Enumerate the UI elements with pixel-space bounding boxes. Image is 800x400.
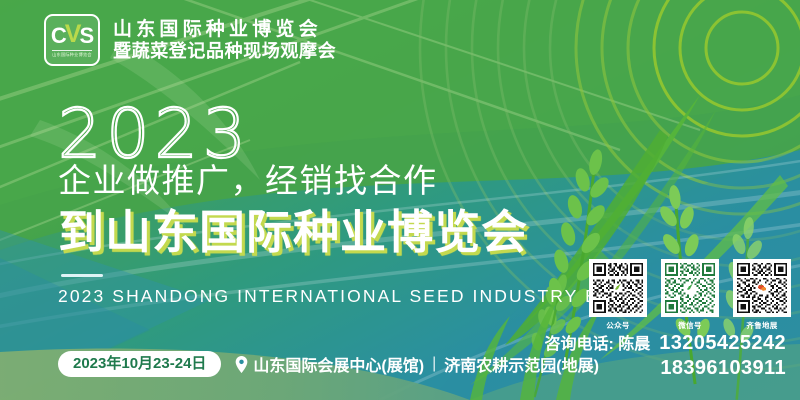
qr-item-gongzhonghao[interactable]: 公众号 <box>589 259 647 331</box>
contact-line-1: 咨询电话: 陈晨 13205425242 <box>544 330 786 355</box>
expo-promo-banner: CVS 山东国际种业博览会 山东国际种业博览会 暨蔬菜登记品种现场观摩会 202… <box>0 0 800 400</box>
main-copy-block: 2023 企业做推广，经销找合作 到山东国际种业博览会 2023 SHANDON… <box>58 104 642 307</box>
contact-line-2: 18396103911 <box>544 357 786 380</box>
logo-leaf-icon: V <box>65 22 81 47</box>
contact-phone-1: 13205425242 <box>659 332 786 355</box>
contact-block: 咨询电话: 陈晨 13205425242 18396103911 <box>544 330 786 380</box>
year-heading: 2023 <box>58 104 642 167</box>
contact-label: 咨询电话: 陈晨 <box>544 330 650 354</box>
logo-letter-s: S <box>79 25 93 47</box>
english-subtitle: 2023 SHANDONG INTERNATIONAL SEED INDUSTR… <box>58 286 642 307</box>
location-pin-icon <box>235 356 248 373</box>
cvs-logo: CVS 山东国际种业博览会 <box>44 14 100 66</box>
header-text-block: 山东国际种业博览会 暨蔬菜登记品种现场观摩会 <box>113 20 336 60</box>
contact-phone-2: 18396103911 <box>660 357 786 379</box>
qr-item-qilu[interactable]: 齐鲁地展 <box>733 259 791 331</box>
qr-item-weixin[interactable]: 微信号 <box>661 259 719 331</box>
event-date-pill: 2023年10月23-24日 <box>58 351 221 377</box>
qr-code-group: 公众号 <box>589 259 791 331</box>
qr-code-icon[interactable] <box>733 259 791 317</box>
venue-primary: 山东国际会展中心(展馆) <box>253 352 424 376</box>
header-line-2: 暨蔬菜登记品种现场观摩会 <box>113 42 336 60</box>
event-info-bar: 2023年10月23-24日 山东国际会展中心(展馆) | 济南农耕示范园(地展… <box>58 351 599 377</box>
divider-rule <box>61 274 103 277</box>
venue-separator: | <box>432 355 436 373</box>
header-line-1: 山东国际种业博览会 <box>113 20 336 39</box>
main-headline: 到山东国际种业博览会 <box>58 206 642 259</box>
logo-letter-c: C <box>51 25 66 47</box>
logo-mark: CVS <box>51 22 93 47</box>
qr-code-icon[interactable] <box>589 259 647 317</box>
tagline: 企业做推广，经销找合作 <box>58 163 642 200</box>
logo-subtitle: 山东国际种业博览会 <box>52 50 92 59</box>
banner-header: CVS 山东国际种业博览会 山东国际种业博览会 暨蔬菜登记品种现场观摩会 <box>44 14 336 66</box>
qr-code-icon[interactable] <box>661 259 719 317</box>
